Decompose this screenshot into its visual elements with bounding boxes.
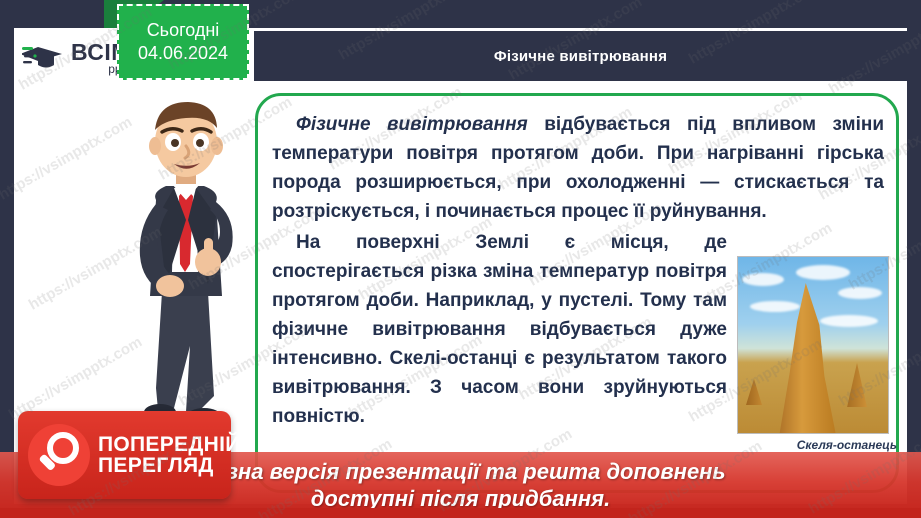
preview-line-two: ПЕРЕГЛЯД [98, 455, 241, 476]
slide-header-bar: Фізичне вивітрювання [254, 31, 907, 81]
today-date-badge: Сьогодні 04.06.2024 [117, 4, 249, 80]
photo-caption: Скеля-останець [737, 438, 897, 452]
preview-badge-text: ПОПЕРЕДНІЙ ПЕРЕГЛЯД [98, 434, 241, 476]
cloud-shape [820, 315, 878, 327]
small-rock-left [744, 379, 764, 405]
cloud-shape [796, 265, 850, 280]
small-rock-right [844, 363, 870, 407]
date-badge-label: Сьогодні [147, 20, 220, 41]
paragraph-one: Фізичне вивітрювання відбувається під вп… [272, 110, 884, 226]
banner-bottom-strip [0, 508, 921, 518]
paragraph-one-lead-term: Фізичне вивітрювання [296, 114, 528, 135]
graduation-cap-icon [22, 41, 66, 75]
brand-logo: ВСІМ pptx [14, 28, 124, 88]
cloud-shape [742, 273, 784, 286]
businessman-character-illustration [100, 96, 270, 426]
preview-line-one: ПОПЕРЕДНІЙ [98, 434, 241, 455]
cloud-shape [838, 287, 882, 299]
preview-badge: ПОПЕРЕДНІЙ ПЕРЕГЛЯД [18, 411, 231, 499]
presentation-slide: ВСІМ pptx Сьогодні 04.06.2024 Фізичне ви… [0, 0, 921, 518]
cloud-shape [750, 301, 800, 312]
slide-title: Фізичне вивітрювання [494, 48, 667, 65]
photo-image [738, 257, 888, 433]
magnifier-icon [28, 424, 90, 486]
date-badge-value: 04.06.2024 [138, 43, 228, 64]
banner-line-one: Повна версія презентації та решта доповн… [195, 459, 725, 485]
rock-formation-photo [737, 256, 889, 434]
paragraph-two: На поверхні Землі є місця, де спостеріга… [272, 228, 727, 431]
